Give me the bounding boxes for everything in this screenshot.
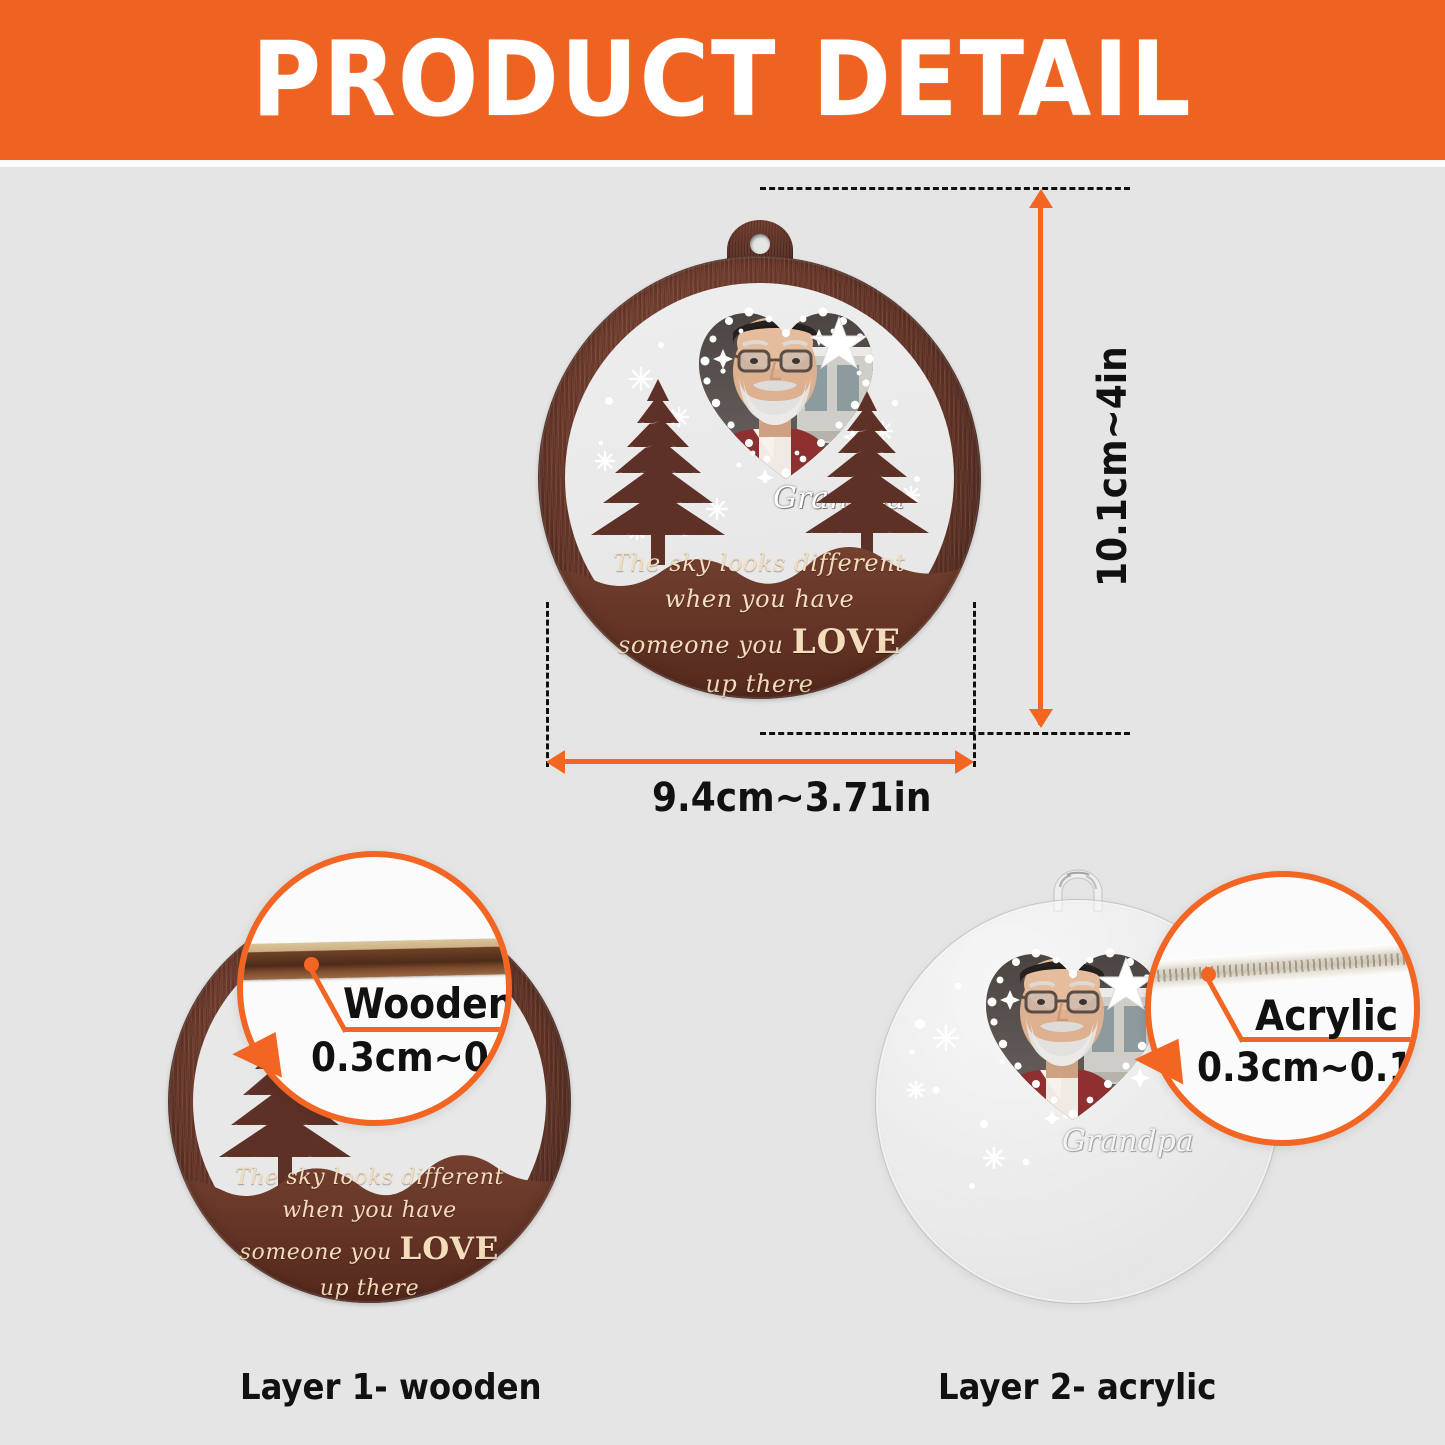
layer-2-caption: Layer 2- acrylic (938, 1367, 1198, 1408)
guide-top-dashed (760, 187, 1130, 190)
acrylic-callout-circle: Acrylic 0.3cm~0.12in (1145, 871, 1420, 1146)
width-arrow-right (955, 750, 974, 774)
guide-left-dashed (546, 602, 549, 767)
height-arrow-bottom (1029, 709, 1053, 728)
guide-right-dashed (973, 602, 976, 767)
width-dimension-label: 9.4cm~3.71in (652, 775, 931, 821)
wooden-thickness-label: 0.3cm~0.12in (311, 1035, 512, 1081)
wooden-material-label: Wooden (343, 979, 512, 1028)
banner-divider (0, 160, 1445, 167)
acrylic-slab-sample (1145, 940, 1420, 993)
product-stage: Grandpa (0, 167, 1445, 1445)
guide-bottom-dashed (760, 732, 1130, 735)
header-banner: PRODUCT DETAIL (0, 0, 1445, 160)
wooden-callout-pointer (230, 1032, 282, 1084)
page-title: PRODUCT DETAIL (252, 20, 1193, 140)
acrylic-callout: Acrylic 0.3cm~0.12in (1145, 871, 1420, 1146)
height-dimension-line (1038, 195, 1043, 725)
acrylic-material-label: Acrylic (1255, 991, 1398, 1040)
acrylic-callout-pointer (1133, 1039, 1184, 1090)
layer-1-caption: Layer 1- wooden (240, 1367, 500, 1408)
height-arrow-top (1029, 189, 1053, 208)
layer2-heart-photo (980, 944, 1166, 1124)
height-dimension-label: 10.1cm~4in (1090, 346, 1136, 587)
wooden-slab-sample (237, 937, 512, 980)
acrylic-thickness-label: 0.3cm~0.12in (1197, 1045, 1420, 1091)
ornament-hanger-hole (750, 234, 770, 254)
width-dimension-line (556, 759, 964, 764)
wooden-callout: Wooden 0.3cm~0.12in (237, 851, 512, 1126)
width-arrow-left (546, 750, 565, 774)
main-ornament: Grandpa (538, 220, 981, 720)
wooden-callout-circle: Wooden 0.3cm~0.12in (237, 851, 512, 1126)
ornament-outer-rim (538, 256, 981, 699)
